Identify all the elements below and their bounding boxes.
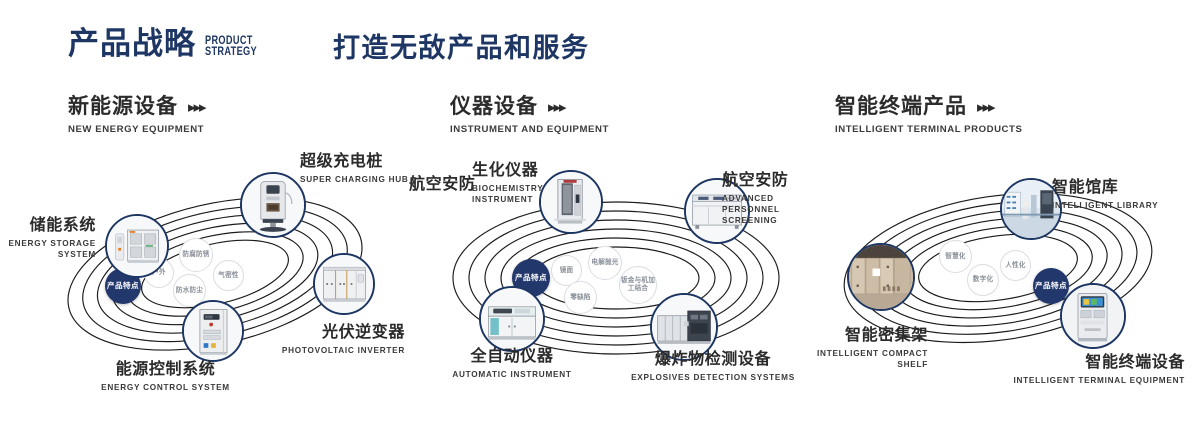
feature-bubble-1: 电解抛光 (588, 246, 622, 280)
section-title-cn-2: 智能终端产品 ▸▸▸ (835, 96, 1022, 117)
section-title-text-1: 仪器设备 (450, 96, 538, 117)
label-cn: 智能终端设备 (930, 355, 1185, 372)
node-automatic-instrument[interactable] (479, 286, 545, 352)
label-charging-pile: 超级充电桩 SUPER CHARGING HUB (300, 154, 409, 185)
label-intelligent-compact-shelf: 智能密集架 INTELLIGENT COMPACT SHELF (790, 328, 928, 370)
page-title-cn: 产品战略 (68, 28, 196, 59)
label-pv-inverter: 光伏逆变器 PHOTOVOLTAIC INVERTER (190, 325, 405, 356)
label-en: PHOTOVOLTAIC INVERTER (190, 345, 405, 356)
section-title-cn-0: 新能源设备 ▸▸▸ (68, 96, 205, 117)
label-aviation-security-left: 航空安防 (409, 177, 475, 194)
label-cn: 光伏逆变器 (190, 325, 405, 342)
node-intelligent-terminal-equipment[interactable] (1060, 283, 1126, 349)
feature-bubble-2: 人性化 (1000, 250, 1031, 281)
label-automatic-instrument: 全自动仪器 AUTOMATIC INSTRUMENT (412, 349, 612, 380)
label-en: EXPLOSIVES DETECTION SYSTEMS (588, 372, 838, 383)
label-cn: 超级充电桩 (300, 154, 409, 171)
label-cn: 全自动仪器 (412, 349, 612, 366)
section-title-cn-1: 仪器设备 ▸▸▸ (450, 96, 609, 117)
compact-shelf-icon (849, 245, 913, 309)
page-title-en: PRODUCT STRATEGY (205, 36, 257, 58)
explosive-detector-icon (652, 295, 716, 359)
label-advanced-screening: 航空安防 ADVANCED PERSONNEL SCREENING (722, 173, 828, 226)
node-charging-pile[interactable] (240, 172, 306, 238)
section-title-en-2: INTELLIGENT TERMINAL PRODUCTS (835, 124, 1022, 135)
label-energy-control: 能源控制系统 ENERGY CONTROL SYSTEM (58, 362, 273, 393)
feature-bubble-3: 零缺陷 (564, 281, 597, 314)
section-title-en-1: INSTRUMENT AND EQUIPMENT (450, 124, 609, 135)
section-title-en-0: NEW ENERGY EQUIPMENT (68, 124, 205, 135)
feature-bubble-0: 智慧化 (939, 240, 972, 273)
label-en: SUPER CHARGING HUB (300, 174, 409, 185)
label-en: INTELLIGENT TERMINAL EQUIPMENT (930, 375, 1185, 386)
label-energy-storage: 储能系统 ENERGY STORAGE SYSTEM (0, 218, 96, 260)
pv-inverter-cabinet-icon (315, 255, 373, 313)
node-intelligent-compact-shelf[interactable] (847, 243, 915, 311)
label-cn: 航空安防 (409, 177, 475, 194)
page-title: 产品战略 PRODUCT STRATEGY (68, 28, 270, 59)
chevron-right-icon: ▸▸▸ (977, 100, 994, 115)
kiosk-terminal-icon (1062, 285, 1124, 347)
feature-bubble-0: 防腐防锈 (179, 238, 213, 272)
label-intelligent-terminal-equipment: 智能终端设备 INTELLIGENT TERMINAL EQUIPMENT (930, 355, 1185, 386)
label-cn: 生化仪器 (472, 163, 556, 180)
poster-canvas: 产品战略 PRODUCT STRATEGY 打造无敌产品和服务 新能源设备 ▸▸… (0, 0, 1200, 422)
node-pv-inverter[interactable] (313, 253, 375, 315)
label-en: INTELLIGENT LIBRARY (1052, 200, 1182, 211)
label-cn: 能源控制系统 (58, 362, 273, 379)
section-header-new-energy: 新能源设备 ▸▸▸ NEW ENERGY EQUIPMENT (68, 96, 205, 135)
section-title-text-2: 智能终端产品 (835, 96, 967, 117)
label-cn: 智能密集架 (790, 328, 928, 345)
section-header-intelligent: 智能终端产品 ▸▸▸ INTELLIGENT TERMINAL PRODUCTS (835, 96, 1022, 135)
label-cn: 储能系统 (0, 218, 96, 235)
label-en: BIOCHEMISTRY INSTRUMENT (472, 183, 556, 205)
feature-bubble-3: 气密性 (213, 260, 244, 291)
chevron-right-icon: ▸▸▸ (548, 100, 565, 115)
label-cn: 智能馆库 (1052, 180, 1182, 197)
label-en: ENERGY STORAGE SYSTEM (0, 238, 96, 260)
chevron-right-icon: ▸▸▸ (188, 100, 205, 115)
label-cn: 航空安防 (722, 173, 828, 190)
label-en: INTELLIGENT COMPACT SHELF (790, 348, 928, 370)
label-en: ENERGY CONTROL SYSTEM (58, 382, 273, 393)
section-header-instruments: 仪器设备 ▸▸▸ INSTRUMENT AND EQUIPMENT (450, 96, 609, 135)
automatic-analyzer-icon (481, 288, 543, 350)
charging-pile-icon (242, 174, 304, 236)
feature-bubble-1: 数字化 (967, 264, 999, 296)
page-subtitle: 打造无敌产品和服务 (333, 33, 590, 64)
node-energy-storage[interactable] (105, 214, 169, 278)
section-title-text-0: 新能源设备 (68, 96, 178, 117)
page-title-en-line2: STRATEGY (205, 47, 257, 58)
label-en: ADVANCED PERSONNEL SCREENING (722, 193, 828, 226)
label-biochemistry-instrument: 生化仪器 BIOCHEMISTRY INSTRUMENT (472, 163, 556, 205)
energy-storage-cabinet-icon (107, 216, 167, 276)
label-intelligent-library: 智能馆库 INTELLIGENT LIBRARY (1052, 180, 1182, 211)
label-en: AUTOMATIC INSTRUMENT (412, 369, 612, 380)
